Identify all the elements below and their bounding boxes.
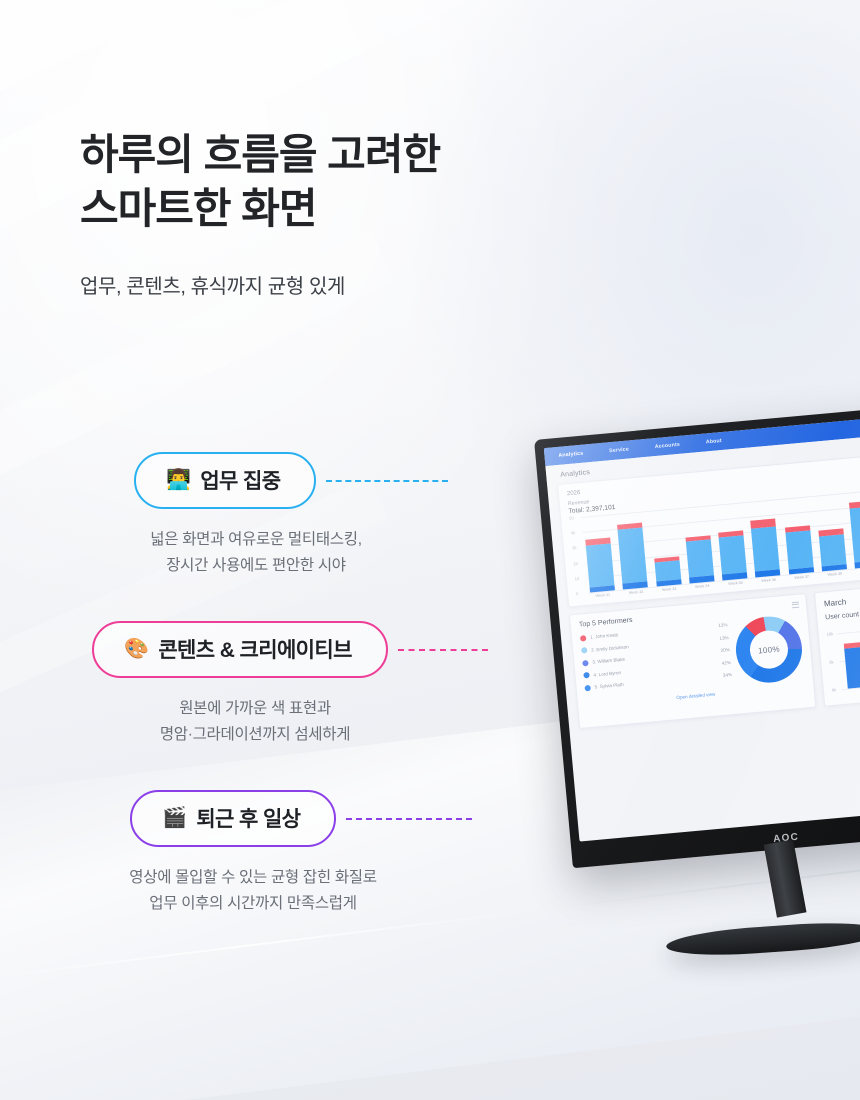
feature-item-content-creative: 🎨 콘텐츠 & 크리에이티브 원본에 가까운 색 표현과 명암·그라데이션까지 … [0,621,560,748]
x-axis-tick: Week 38 [822,571,847,577]
nav-item-accounts[interactable]: Accounts [655,442,681,450]
bar-segment [654,560,681,581]
color-dot-icon [580,635,587,642]
x-axis-tick: Week 32 [623,589,648,595]
bar-segment [689,575,715,584]
x-axis-tick: Week 31 [590,592,615,598]
feature-pill-work-focus[interactable]: 👨‍💻 업무 집중 [134,452,316,509]
y-axis-tick: 30 [572,546,577,551]
feature-item-after-work: 🎬 퇴근 후 일상 영상에 몰입할 수 있는 균형 잡힌 화질로 업무 이후의 … [0,790,560,917]
feature-pill-content-creative[interactable]: 🎨 콘텐츠 & 크리에이티브 [92,621,388,678]
x-axis-tick: Week 35 [723,580,748,586]
feature-pill-label: 업무 집중 [200,465,280,495]
bar-column [749,500,781,578]
feature-pill-label: 퇴근 후 일상 [196,803,300,833]
bar-segment [855,560,860,569]
hero-subtitle: 업무, 콘텐츠, 휴식까지 균형 있게 [80,270,600,299]
feature-description: 원본에 가까운 색 표현과 명암·그라데이션까지 섬세하게 [40,696,470,748]
bar-segment [586,544,615,588]
bar-segment [755,569,781,578]
menu-icon[interactable] [792,602,800,609]
color-dot-icon [582,660,589,667]
performer-percent: 20% [720,647,730,653]
feature-description: 영상에 몰입할 수 있는 균형 잡힌 화질로 업무 이후의 시간까지 만족스럽게 [18,865,488,917]
nav-item-about[interactable]: About [706,438,722,445]
monitor-product-image: Analytics Service Accounts About Analyti… [534,401,860,868]
feature-description: 넓은 화면과 여유로운 멀티태스킹, 장시간 사용에도 편안한 시야 [46,527,466,579]
connector-line [346,818,472,820]
bar-column [716,503,748,581]
bar-segment [719,535,747,574]
bar-column [815,493,847,571]
hero-copy: 하루의 흐름을 고려한 스마트한 화면 업무, 콘텐츠, 휴식까지 균형 있게 [80,128,600,299]
bar-column [844,634,860,688]
bar-segment [819,534,847,567]
performer-percent: 13% [719,635,729,641]
x-axis-tick: Week 33 [657,586,682,592]
bar-column [616,512,648,590]
y-axis-tick: 50 [569,515,574,520]
color-dot-icon [584,685,591,692]
clapper-board-emoji: 🎬 [162,808,186,828]
bar-segment [785,531,813,570]
artist-palette-emoji: 🎨 [124,639,148,659]
x-axis-tick: Week 36 [756,577,781,583]
y-axis-tick: 0k [832,687,837,692]
month-label: March [824,588,860,609]
dashboard-ui: Analytics Service Accounts About Analyti… [544,411,860,842]
bar-column [583,515,615,593]
y-axis-tick: 40 [570,530,575,535]
y-axis-tick: 0 [576,591,579,596]
monitor-bezel: Analytics Service Accounts About Analyti… [534,401,860,868]
x-axis-tick: Week 39 [855,568,860,574]
color-dot-icon [581,647,588,654]
top-performers-card: Top 5 Performers 1. John Keats12%2. Emil… [569,593,816,729]
y-axis-tick: 20 [573,561,578,566]
performers-list: 1. John Keats12%2. Emily Dickinson13%3. … [580,622,733,698]
bar-segment [722,572,748,581]
bar-column [683,506,715,584]
feature-pill-after-work[interactable]: 🎬 퇴근 후 일상 [130,790,336,847]
promo-banner: 하루의 흐름을 고려한 스마트한 화면 업무, 콘텐츠, 휴식까지 균형 있게 … [0,0,860,1100]
bar-column [782,496,814,574]
y-axis-tick: 10 [575,576,580,581]
bar-segment [623,581,649,590]
x-axis-tick: Week 34 [690,583,715,589]
performer-percent: 34% [723,672,733,678]
feature-list: 👨‍💻 업무 집중 넓은 화면과 여유로운 멀티태스킹, 장시간 사용에도 편안… [0,452,560,959]
page-title: 하루의 흐름을 고려한 스마트한 화면 [80,128,600,236]
bar-column [848,490,860,568]
technologist-emoji: 👨‍💻 [166,470,190,490]
bar-segment [850,507,860,562]
feature-item-work-focus: 👨‍💻 업무 집중 넓은 화면과 여유로운 멀티태스킹, 장시간 사용에도 편안… [0,452,560,579]
color-dot-icon [583,672,590,679]
y-axis-tick: 10k [827,631,834,637]
y-axis-tick: 5k [829,659,834,664]
bar-segment [751,526,780,571]
x-axis-tick: Week 37 [789,574,814,580]
bar-column [649,509,681,587]
performer-percent: 12% [718,622,728,628]
nav-item-service[interactable]: Service [609,446,629,454]
connector-line [398,649,488,651]
monitor-screen: Analytics Service Accounts About Analyti… [544,411,860,842]
feature-pill-label: 콘텐츠 & 크리에이티브 [158,634,352,664]
bar-segment [618,528,648,583]
month-plot-area: 10k5k0k [827,623,860,690]
performer-percent: 42% [722,660,732,666]
performers-donut-chart: 100% [733,614,805,686]
month-metric-card: March User count +16% 10k5k0k 2025 [814,579,860,707]
nav-item-analytics[interactable]: Analytics [558,451,583,459]
bar-segment [686,540,714,578]
connector-line [326,480,448,482]
